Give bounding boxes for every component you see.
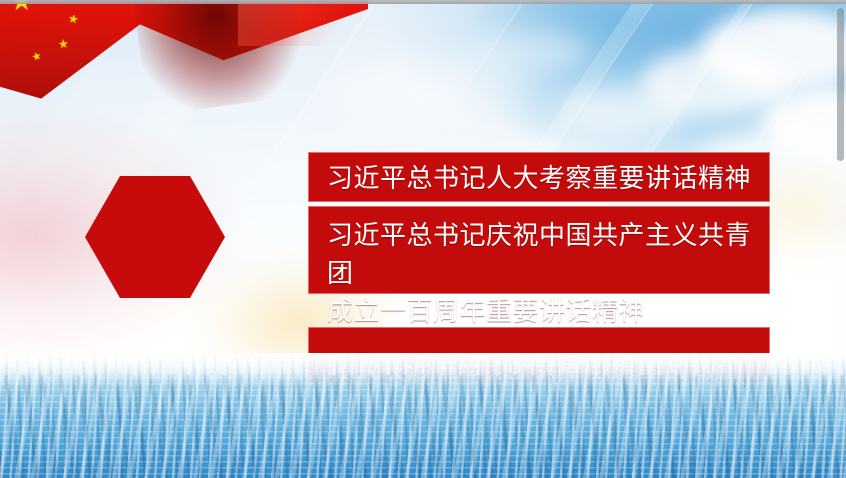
flag-star-small: ★ <box>57 37 69 50</box>
water-ripple-photo <box>0 353 846 478</box>
window-top-bar <box>0 0 846 4</box>
water-ripple-texture <box>0 375 846 478</box>
banner-item-1[interactable]: 习近平总书记人大考察重要讲话精神 <box>308 152 770 202</box>
flag-star-small: ★ <box>67 12 80 26</box>
water-horizon-fade <box>0 353 846 387</box>
scrollbar-track[interactable] <box>835 4 846 478</box>
banner-item-2[interactable]: 习近平总书记庆祝中国共产主义共青团 成立一百周年重要讲话精神 <box>308 206 770 294</box>
scrollbar-thumb[interactable] <box>837 8 844 161</box>
slide-canvas: ★ ★ ★ ★ ★ 习近平总书记人大考察重要讲话精神 习近平总书记庆祝中国共产主… <box>0 0 846 478</box>
